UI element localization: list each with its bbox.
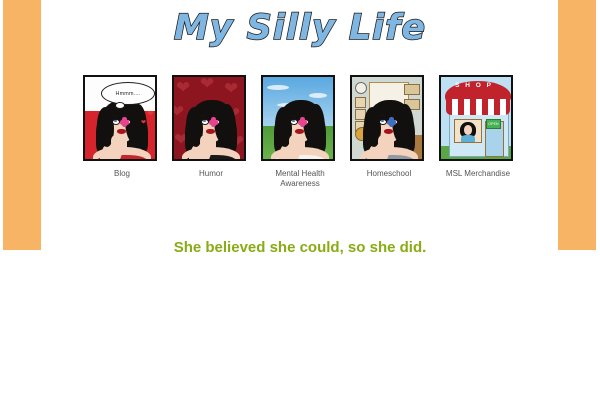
nav-item-homeschool[interactable]: Homeschool xyxy=(350,75,428,179)
speech-bubble-text: Hmmm.... xyxy=(116,91,141,97)
nav-item-msl-merchandise[interactable]: S H O P OPEN MSL Merchandise xyxy=(439,75,517,179)
nav-label-humor: Humor xyxy=(172,169,250,179)
nav-label-homeschool: Homeschool xyxy=(350,169,428,179)
eyebrow-left xyxy=(111,115,118,118)
eyebrow-left xyxy=(289,115,296,118)
shop-awning xyxy=(446,99,510,115)
heart-icon: ❤ xyxy=(224,80,238,97)
lips xyxy=(384,129,393,134)
nav-item-mental-health-awareness[interactable]: Mental Health Awareness xyxy=(261,75,339,189)
eyebrow-left xyxy=(378,115,385,118)
cloud-icon xyxy=(309,93,327,98)
speech-bubble-tail xyxy=(115,102,125,109)
pupil-left xyxy=(292,120,295,123)
msl-merchandise-thumbnail[interactable]: S H O P OPEN xyxy=(439,75,513,161)
nav-label-blog: Blog xyxy=(83,169,161,179)
hand xyxy=(111,135,123,149)
heart-icon: ❤ xyxy=(172,103,184,120)
pupil-left xyxy=(381,120,384,123)
flower-icon xyxy=(120,117,129,126)
nav-label-msl-merchandise: MSL Merchandise xyxy=(439,169,517,179)
mental-health-awareness-thumbnail[interactable] xyxy=(261,75,335,161)
hand xyxy=(289,135,301,149)
navigation-thumbnail-row: Hmmm.... ❤ ❤ xyxy=(45,75,555,189)
left-orange-band xyxy=(3,0,41,250)
site-title: My Silly Life xyxy=(45,0,555,50)
pupil-left xyxy=(203,120,206,123)
heart-icon: ❤ xyxy=(176,79,190,96)
flower-icon xyxy=(298,117,307,126)
humor-thumbnail[interactable]: ❤ ❤ ❤ ❤ ❤ ❤ ❤ xyxy=(172,75,246,161)
window-woman-body xyxy=(461,135,475,142)
heart-icon: ❤ xyxy=(141,119,146,127)
nav-item-humor[interactable]: ❤ ❤ ❤ ❤ ❤ ❤ ❤ xyxy=(172,75,250,179)
hand xyxy=(200,135,212,149)
window-woman-face xyxy=(464,125,472,135)
nav-item-blog[interactable]: Hmmm.... ❤ ❤ xyxy=(83,75,161,179)
shelf xyxy=(404,84,420,95)
cloud-icon xyxy=(267,85,289,90)
lips xyxy=(117,129,126,134)
page-content: My Silly Life Hmmm.... ❤ ❤ xyxy=(45,0,555,400)
shop-window xyxy=(454,119,482,143)
clock-icon xyxy=(355,82,367,94)
lips xyxy=(206,129,215,134)
homeschool-thumbnail[interactable] xyxy=(350,75,424,161)
open-sign: OPEN xyxy=(486,119,501,129)
shop-sign-text: S H O P xyxy=(441,82,507,89)
hand xyxy=(378,135,390,149)
flower-icon xyxy=(209,117,218,126)
heart-icon: ❤ xyxy=(200,75,214,92)
eyebrow-left xyxy=(200,115,207,118)
speech-bubble: Hmmm.... xyxy=(101,82,155,105)
tagline: She believed she could, so she did. xyxy=(45,189,555,256)
nav-label-mental-health-awareness: Mental Health Awareness xyxy=(261,169,339,189)
blog-thumbnail[interactable]: Hmmm.... ❤ ❤ xyxy=(83,75,157,161)
flower-icon xyxy=(387,117,396,126)
poster xyxy=(355,97,366,108)
right-orange-band xyxy=(558,0,596,250)
pupil-left xyxy=(114,120,117,123)
heart-icon: ❤ xyxy=(147,110,154,118)
lips xyxy=(295,129,304,134)
